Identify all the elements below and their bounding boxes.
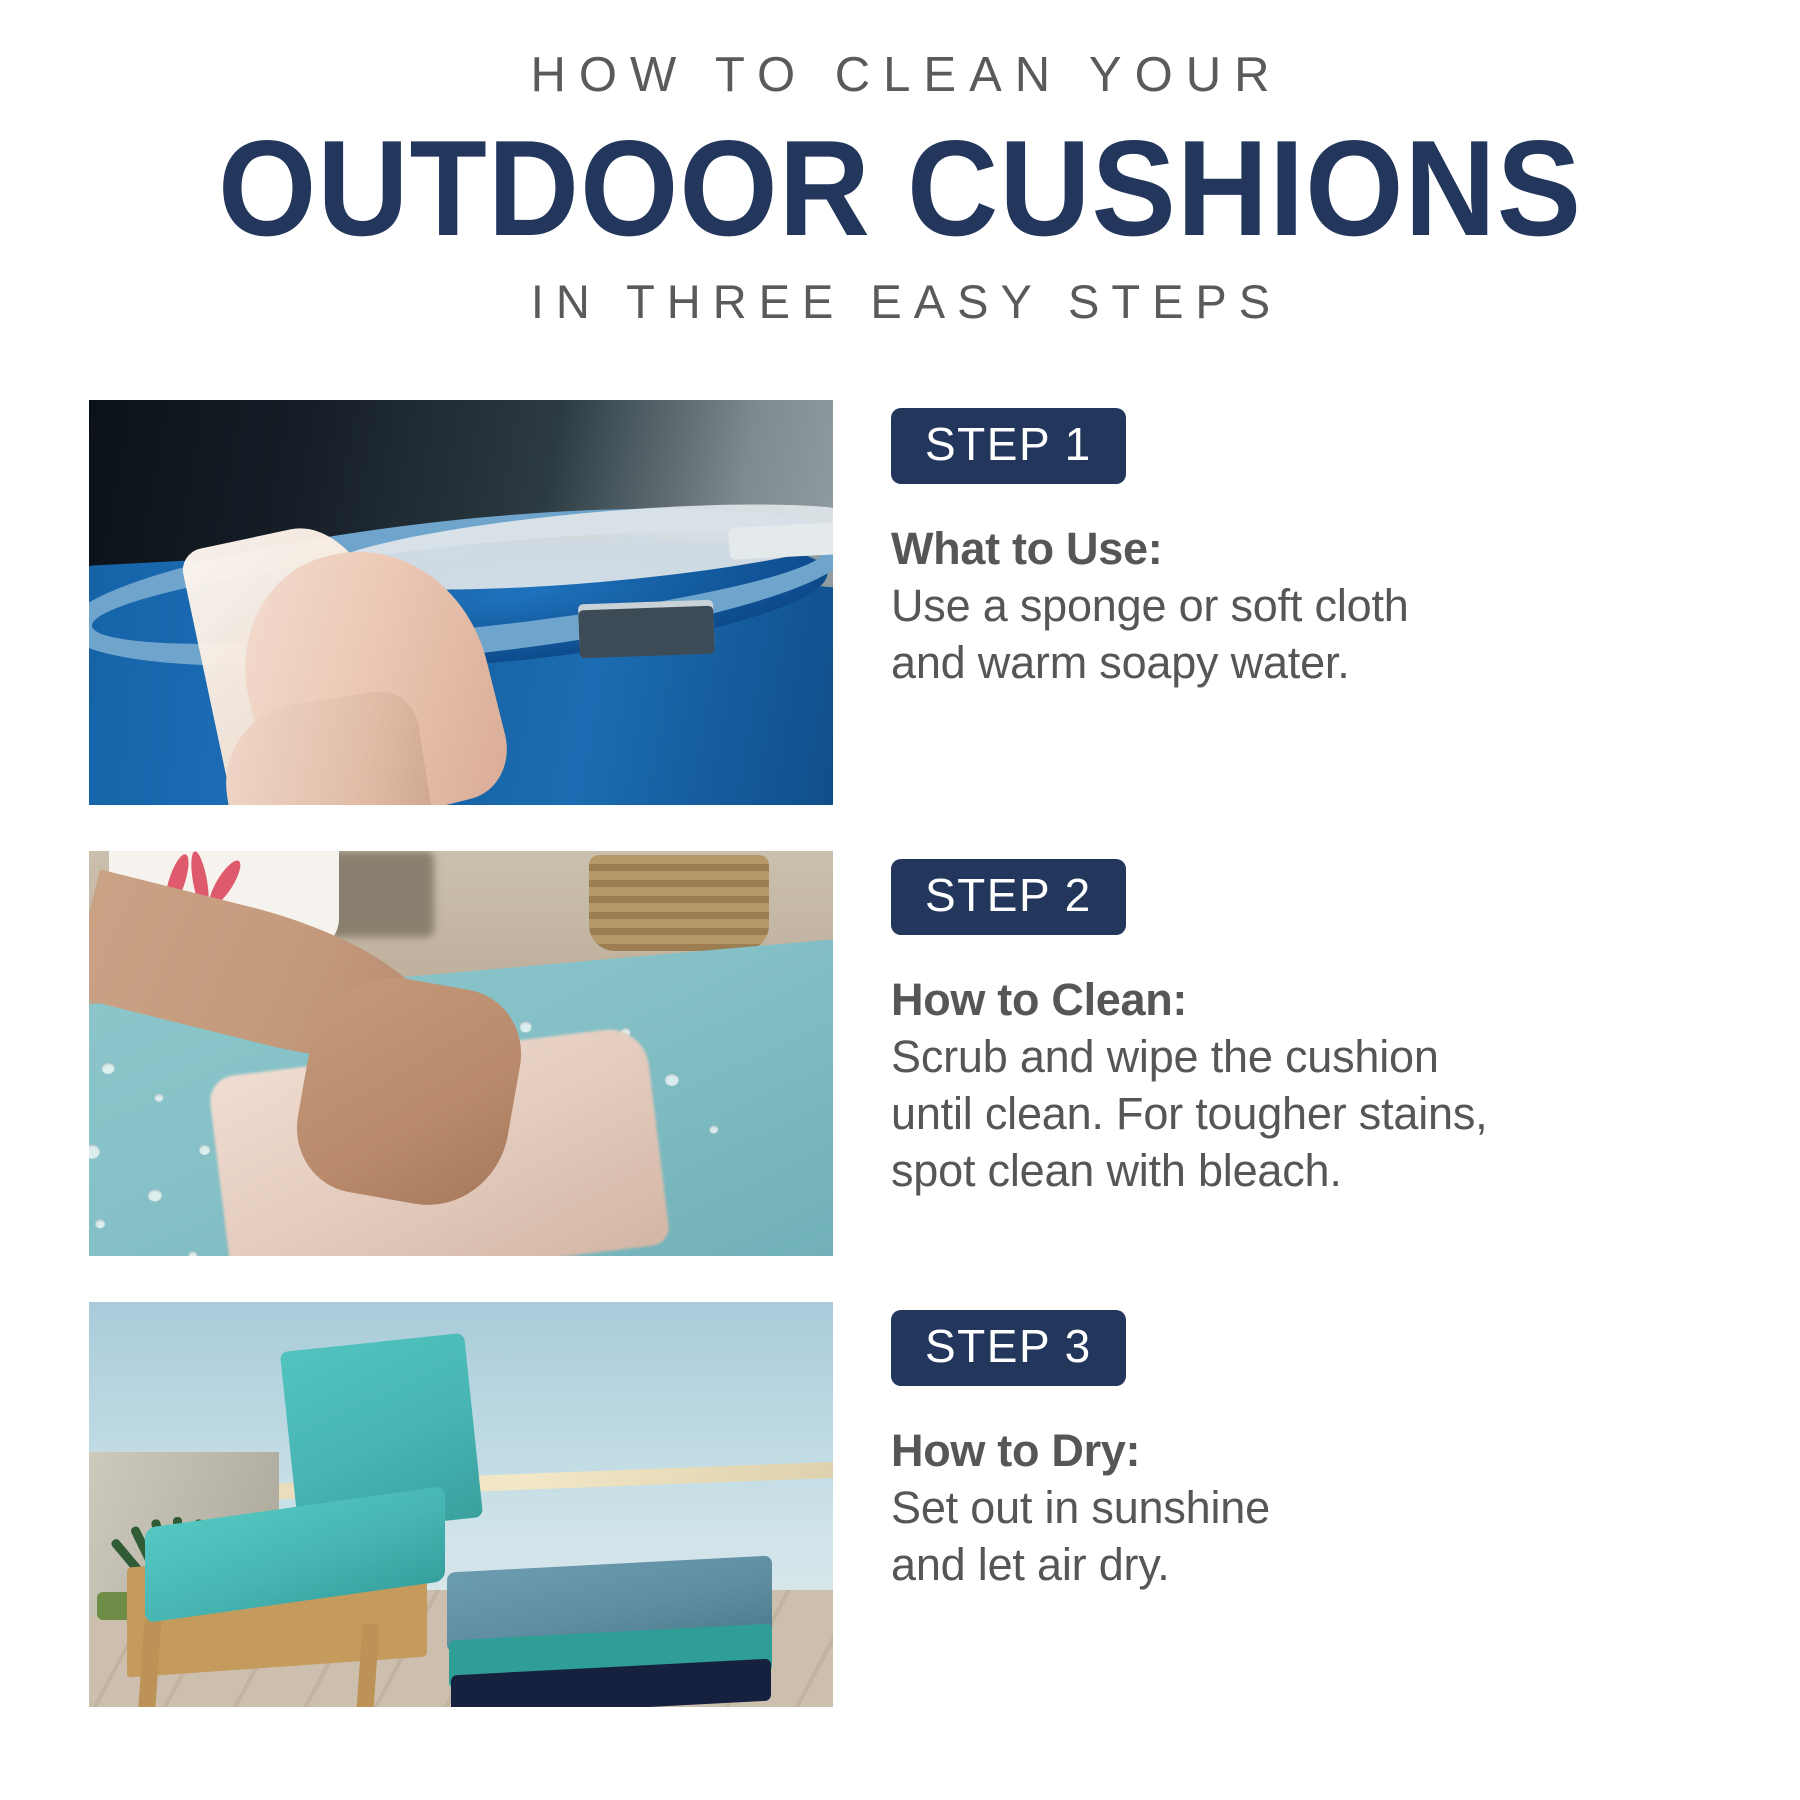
steps-list: STEP 1 What to Use: Use a sponge or soft…: [0, 400, 1800, 1753]
step-1-photo: [89, 400, 833, 805]
header-subkicker: IN THREE EASY STEPS: [13, 276, 1800, 329]
step-3-heading: How to Dry:: [891, 1426, 1800, 1476]
step-1-heading: What to Use:: [891, 524, 1800, 574]
step-row: STEP 1 What to Use: Use a sponge or soft…: [0, 400, 1800, 805]
step-1-copy: STEP 1 What to Use: Use a sponge or soft…: [891, 400, 1800, 692]
step-2-body: Scrub and wipe the cushion until clean. …: [891, 1029, 1800, 1199]
step-1-body: Use a sponge or soft cloth and warm soap…: [891, 578, 1800, 691]
step-2-badge: STEP 2: [891, 859, 1126, 935]
step-3-body: Set out in sunshine and let air dry.: [891, 1480, 1800, 1593]
infographic-page: HOW TO CLEAN YOUR OUTDOOR CUSHIONS IN TH…: [0, 0, 1800, 1800]
bucket-clip-shape: [728, 522, 833, 560]
step-3-badge: STEP 3: [891, 1310, 1126, 1386]
header: HOW TO CLEAN YOUR OUTDOOR CUSHIONS IN TH…: [0, 0, 1800, 328]
step-row: STEP 3 How to Dry: Set out in sunshine a…: [0, 1302, 1800, 1707]
step-2-photo: [89, 851, 833, 1256]
step-row: STEP 2 How to Clean: Scrub and wipe the …: [0, 851, 1800, 1256]
page-title: OUTDOOR CUSHIONS: [63, 119, 1737, 258]
step-2-copy: STEP 2 How to Clean: Scrub and wipe the …: [891, 851, 1800, 1199]
woven-basket-shape: [589, 855, 769, 951]
bucket-grip-shape: [578, 606, 715, 659]
step-1-badge: STEP 1: [891, 408, 1126, 484]
step-3-copy: STEP 3 How to Dry: Set out in sunshine a…: [891, 1302, 1800, 1594]
step-2-heading: How to Clean:: [891, 975, 1800, 1025]
header-kicker: HOW TO CLEAN YOUR: [13, 48, 1800, 103]
step-3-photo: [89, 1302, 833, 1707]
